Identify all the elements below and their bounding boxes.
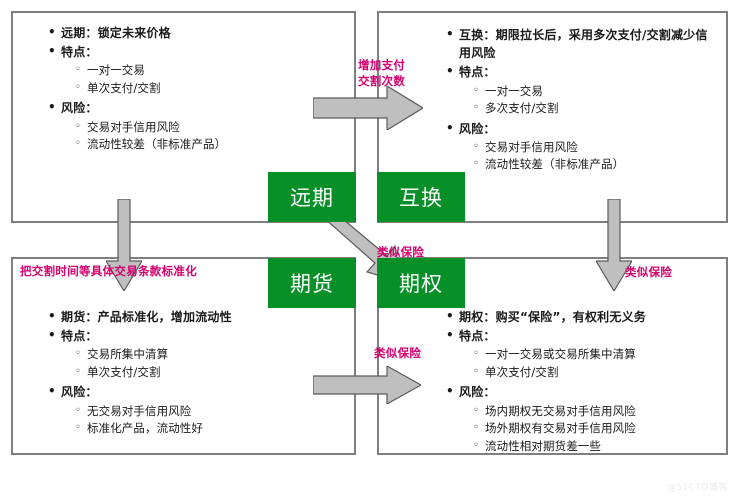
- bullet-label: 特点：: [61, 329, 98, 343]
- sub-bullet-item: 无交易对手信用风险: [87, 403, 342, 420]
- sub-bullet-item: 交易所集中清算: [87, 346, 342, 363]
- bullet-item: 风险：交易对手信用风险流动性较差（非标准产品）: [459, 120, 716, 174]
- bullet-label: 远期：锁定未来价格: [61, 26, 171, 40]
- sub-bullet-item: 多次支付/交割: [485, 100, 716, 117]
- sub-bullet-item: 流动性较差（非标准产品）: [87, 136, 342, 153]
- sub-bullet-item: 一对一交易或交易所集中清算: [485, 346, 720, 363]
- sub-bullet-item: 标准化产品，流动性好: [87, 420, 342, 437]
- bullet-list: 远期：锁定未来价格特点：一对一交易单次支付/交割风险：交易对手信用风险流动性较差…: [46, 24, 342, 154]
- sub-bullet-item: 场外期权有交易对手信用风险: [485, 420, 720, 437]
- bullet-item: 风险：场内期权无交易对手信用风险场外期权有交易对手信用风险流动性相对期货差一些: [459, 383, 720, 455]
- chip-option[interactable]: 期权: [377, 258, 465, 308]
- bullet-label: 期权：购买“保险”，有权利无义务: [459, 310, 646, 324]
- sub-bullet-item: 流动性相对期货差一些: [485, 438, 720, 455]
- chip-swap[interactable]: 互换: [377, 172, 465, 222]
- bullet-item: 特点：一对一交易单次支付/交割: [61, 43, 342, 97]
- content-forward: 远期：锁定未来价格特点：一对一交易单次支付/交割风险：交易对手信用风险流动性较差…: [46, 24, 342, 156]
- sub-bullet-item: 单次支付/交割: [87, 364, 342, 381]
- chip-forward[interactable]: 远期: [268, 172, 356, 222]
- bullet-label: 特点：: [459, 329, 496, 343]
- diagram-canvas: 远期 互换 期货 期权 增加支付 交割次数 把交割时间等具体交易条款标准化 类似…: [0, 0, 738, 500]
- sub-bullet-item: 流动性较差（非标准产品）: [485, 156, 716, 173]
- sub-bullet-list: 无交易对手信用风险标准化产品，流动性好: [61, 403, 342, 438]
- sub-bullet-list: 一对一交易或交易所集中清算单次支付/交割: [459, 346, 720, 381]
- sub-bullet-item: 交易对手信用风险: [87, 119, 342, 136]
- bullet-list: 期权：购买“保险”，有权利无义务特点：一对一交易或交易所集中清算单次支付/交割风…: [444, 308, 720, 455]
- sub-bullet-item: 场内期权无交易对手信用风险: [485, 403, 720, 420]
- bullet-label: 特点：: [61, 45, 98, 59]
- sub-bullet-item: 一对一交易: [485, 83, 716, 100]
- bullet-item: 期权：购买“保险”，有权利无义务: [459, 308, 720, 326]
- bullet-label: 风险：: [459, 122, 496, 136]
- bullet-item: 远期：锁定未来价格: [61, 24, 342, 42]
- bullet-label: 风险：: [459, 385, 496, 399]
- sub-bullet-list: 一对一交易单次支付/交割: [61, 62, 342, 97]
- sub-bullet-item: 单次支付/交割: [485, 364, 720, 381]
- bullet-list: 期货：产品标准化，增加流动性特点：交易所集中清算单次支付/交割风险：无交易对手信…: [46, 308, 342, 438]
- bullet-item: 特点：交易所集中清算单次支付/交割: [61, 327, 342, 381]
- sub-bullet-list: 交易对手信用风险流动性较差（非标准产品）: [61, 119, 342, 154]
- sub-bullet-list: 一对一交易多次支付/交割: [459, 83, 716, 118]
- bullet-item: 期货：产品标准化，增加流动性: [61, 308, 342, 326]
- annotation-add-settlement: 增加支付 交割次数: [358, 58, 424, 90]
- annotation-standardize: 把交割时间等具体交易条款标准化: [20, 264, 197, 280]
- chip-futures[interactable]: 期货: [268, 258, 356, 308]
- bullet-item: 特点：一对一交易多次支付/交割: [459, 63, 716, 117]
- bullet-item: 风险：无交易对手信用风险标准化产品，流动性好: [61, 383, 342, 437]
- sub-bullet-list: 交易对手信用风险流动性较差（非标准产品）: [459, 139, 716, 174]
- bullet-label: 特点：: [459, 65, 496, 79]
- sub-bullet-list: 交易所集中清算单次支付/交割: [61, 346, 342, 381]
- annotation-like-insurance-diagonal: 类似保险: [377, 245, 424, 261]
- bullet-label: 期货：产品标准化，增加流动性: [61, 310, 232, 324]
- bullet-item: 特点：一对一交易或交易所集中清算单次支付/交割: [459, 327, 720, 381]
- bullet-label: 风险：: [61, 385, 98, 399]
- bullet-label: 风险：: [61, 101, 98, 115]
- watermark: @51CTO博客: [667, 480, 728, 493]
- bullet-list: 互换：期限拉长后，采用多次支付/交割减少信用风险特点：一对一交易多次支付/交割风…: [444, 26, 716, 174]
- sub-bullet-list: 场内期权无交易对手信用风险场外期权有交易对手信用风险流动性相对期货差一些: [459, 403, 720, 455]
- sub-bullet-item: 交易对手信用风险: [485, 139, 716, 156]
- bullet-item: 互换：期限拉长后，采用多次支付/交割减少信用风险: [459, 26, 716, 62]
- bullet-label: 互换：期限拉长后，采用多次支付/交割减少信用风险: [459, 28, 708, 60]
- annotation-like-insurance-vertical: 类似保险: [625, 265, 672, 281]
- content-futures: 期货：产品标准化，增加流动性特点：交易所集中清算单次支付/交割风险：无交易对手信…: [46, 308, 342, 440]
- bullet-item: 风险：交易对手信用风险流动性较差（非标准产品）: [61, 99, 342, 153]
- content-swap: 互换：期限拉长后，采用多次支付/交割减少信用风险特点：一对一交易多次支付/交割风…: [444, 26, 716, 176]
- content-option: 期权：购买“保险”，有权利无义务特点：一对一交易或交易所集中清算单次支付/交割风…: [444, 308, 720, 457]
- annotation-like-insurance-horizontal: 类似保险: [374, 346, 421, 362]
- sub-bullet-item: 一对一交易: [87, 62, 342, 79]
- sub-bullet-item: 单次支付/交割: [87, 80, 342, 97]
